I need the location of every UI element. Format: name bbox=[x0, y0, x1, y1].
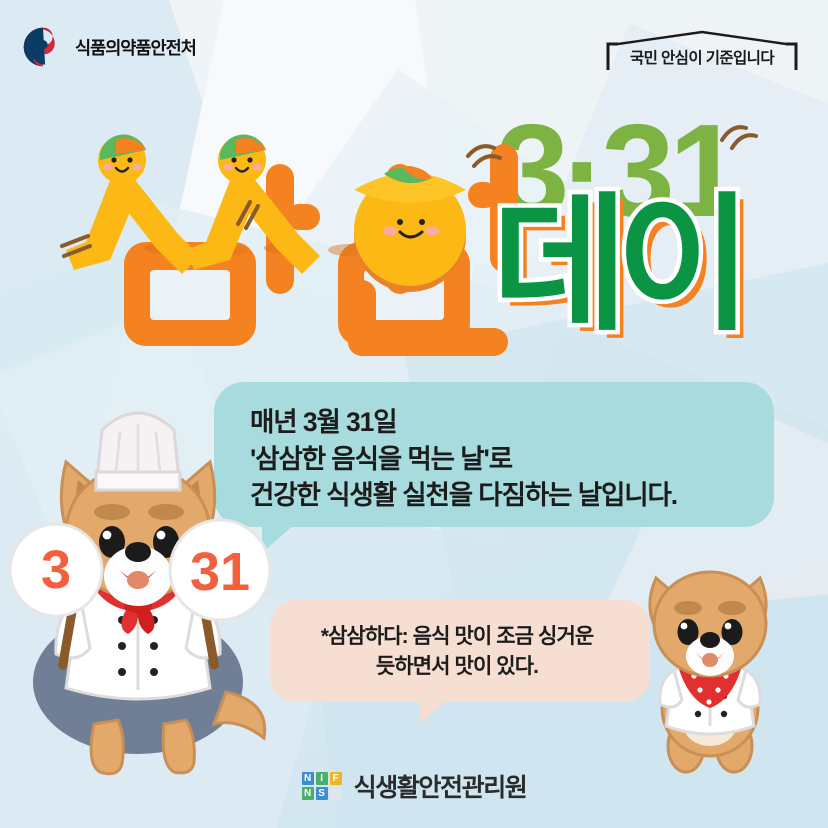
nifs-block: F bbox=[330, 772, 342, 785]
ministry-logo: 식품의약품안전처 bbox=[22, 26, 196, 68]
main-bubble-line: '삼삼한 음식을 먹는 날'로 bbox=[250, 441, 754, 478]
nifs-block: N bbox=[302, 772, 314, 785]
sign-right-value: 31 bbox=[190, 542, 250, 602]
main-speech-bubble: 매년 3월 31일 '삼삼한 음식을 먹는 날'로 건강한 식생활 실천을 다짐… bbox=[214, 382, 774, 527]
slogan-text: 국민 안심이 기준입니다 bbox=[604, 46, 800, 68]
nifs-block: I bbox=[316, 772, 328, 785]
poster-canvas: 식품의약품안전처 국민 안심이 기준입니다 3·31 bbox=[0, 0, 828, 828]
note-speech-bubble: *삼삼하다: 음식 맛이 조금 싱거운 듯하면서 맛이 있다. bbox=[270, 600, 650, 702]
title-block: 3·31 bbox=[0, 104, 828, 334]
chef-hat-icon bbox=[96, 413, 180, 490]
chef-dog-mascot: 3 31 bbox=[8, 352, 268, 772]
slogan-block: 국민 안심이 기준입니다 bbox=[604, 30, 800, 74]
puppy-mascot bbox=[630, 548, 810, 778]
main-bubble-line: 건강한 식생활 실천을 다짐하는 날입니다. bbox=[250, 477, 754, 514]
speed-line-icon bbox=[718, 118, 778, 158]
title-word-dei: 데이 데이 데이 bbox=[486, 188, 826, 348]
taeguk-icon bbox=[22, 26, 64, 68]
nifs-block: S bbox=[316, 787, 328, 800]
footer-logo: N I F N S 식생활안전관리원 bbox=[0, 768, 828, 804]
note-bubble-line: 듯하면서 맛이 있다. bbox=[282, 652, 632, 682]
nifs-mark-icon: N I F N S bbox=[302, 772, 342, 800]
footer-organization: 식생활안전관리원 bbox=[354, 768, 527, 804]
sign-left-value: 3 bbox=[41, 540, 71, 600]
note-bubble-line: *삼삼하다: 음식 맛이 조금 싱거운 bbox=[282, 622, 632, 652]
nifs-block bbox=[330, 787, 342, 800]
nifs-block: N bbox=[302, 787, 314, 800]
svg-text:데이: 데이 bbox=[492, 183, 740, 348]
ministry-name: 식품의약품안전처 bbox=[75, 35, 196, 60]
main-bubble-line: 매년 3월 31일 bbox=[250, 404, 754, 441]
bubble-tail bbox=[420, 698, 448, 724]
